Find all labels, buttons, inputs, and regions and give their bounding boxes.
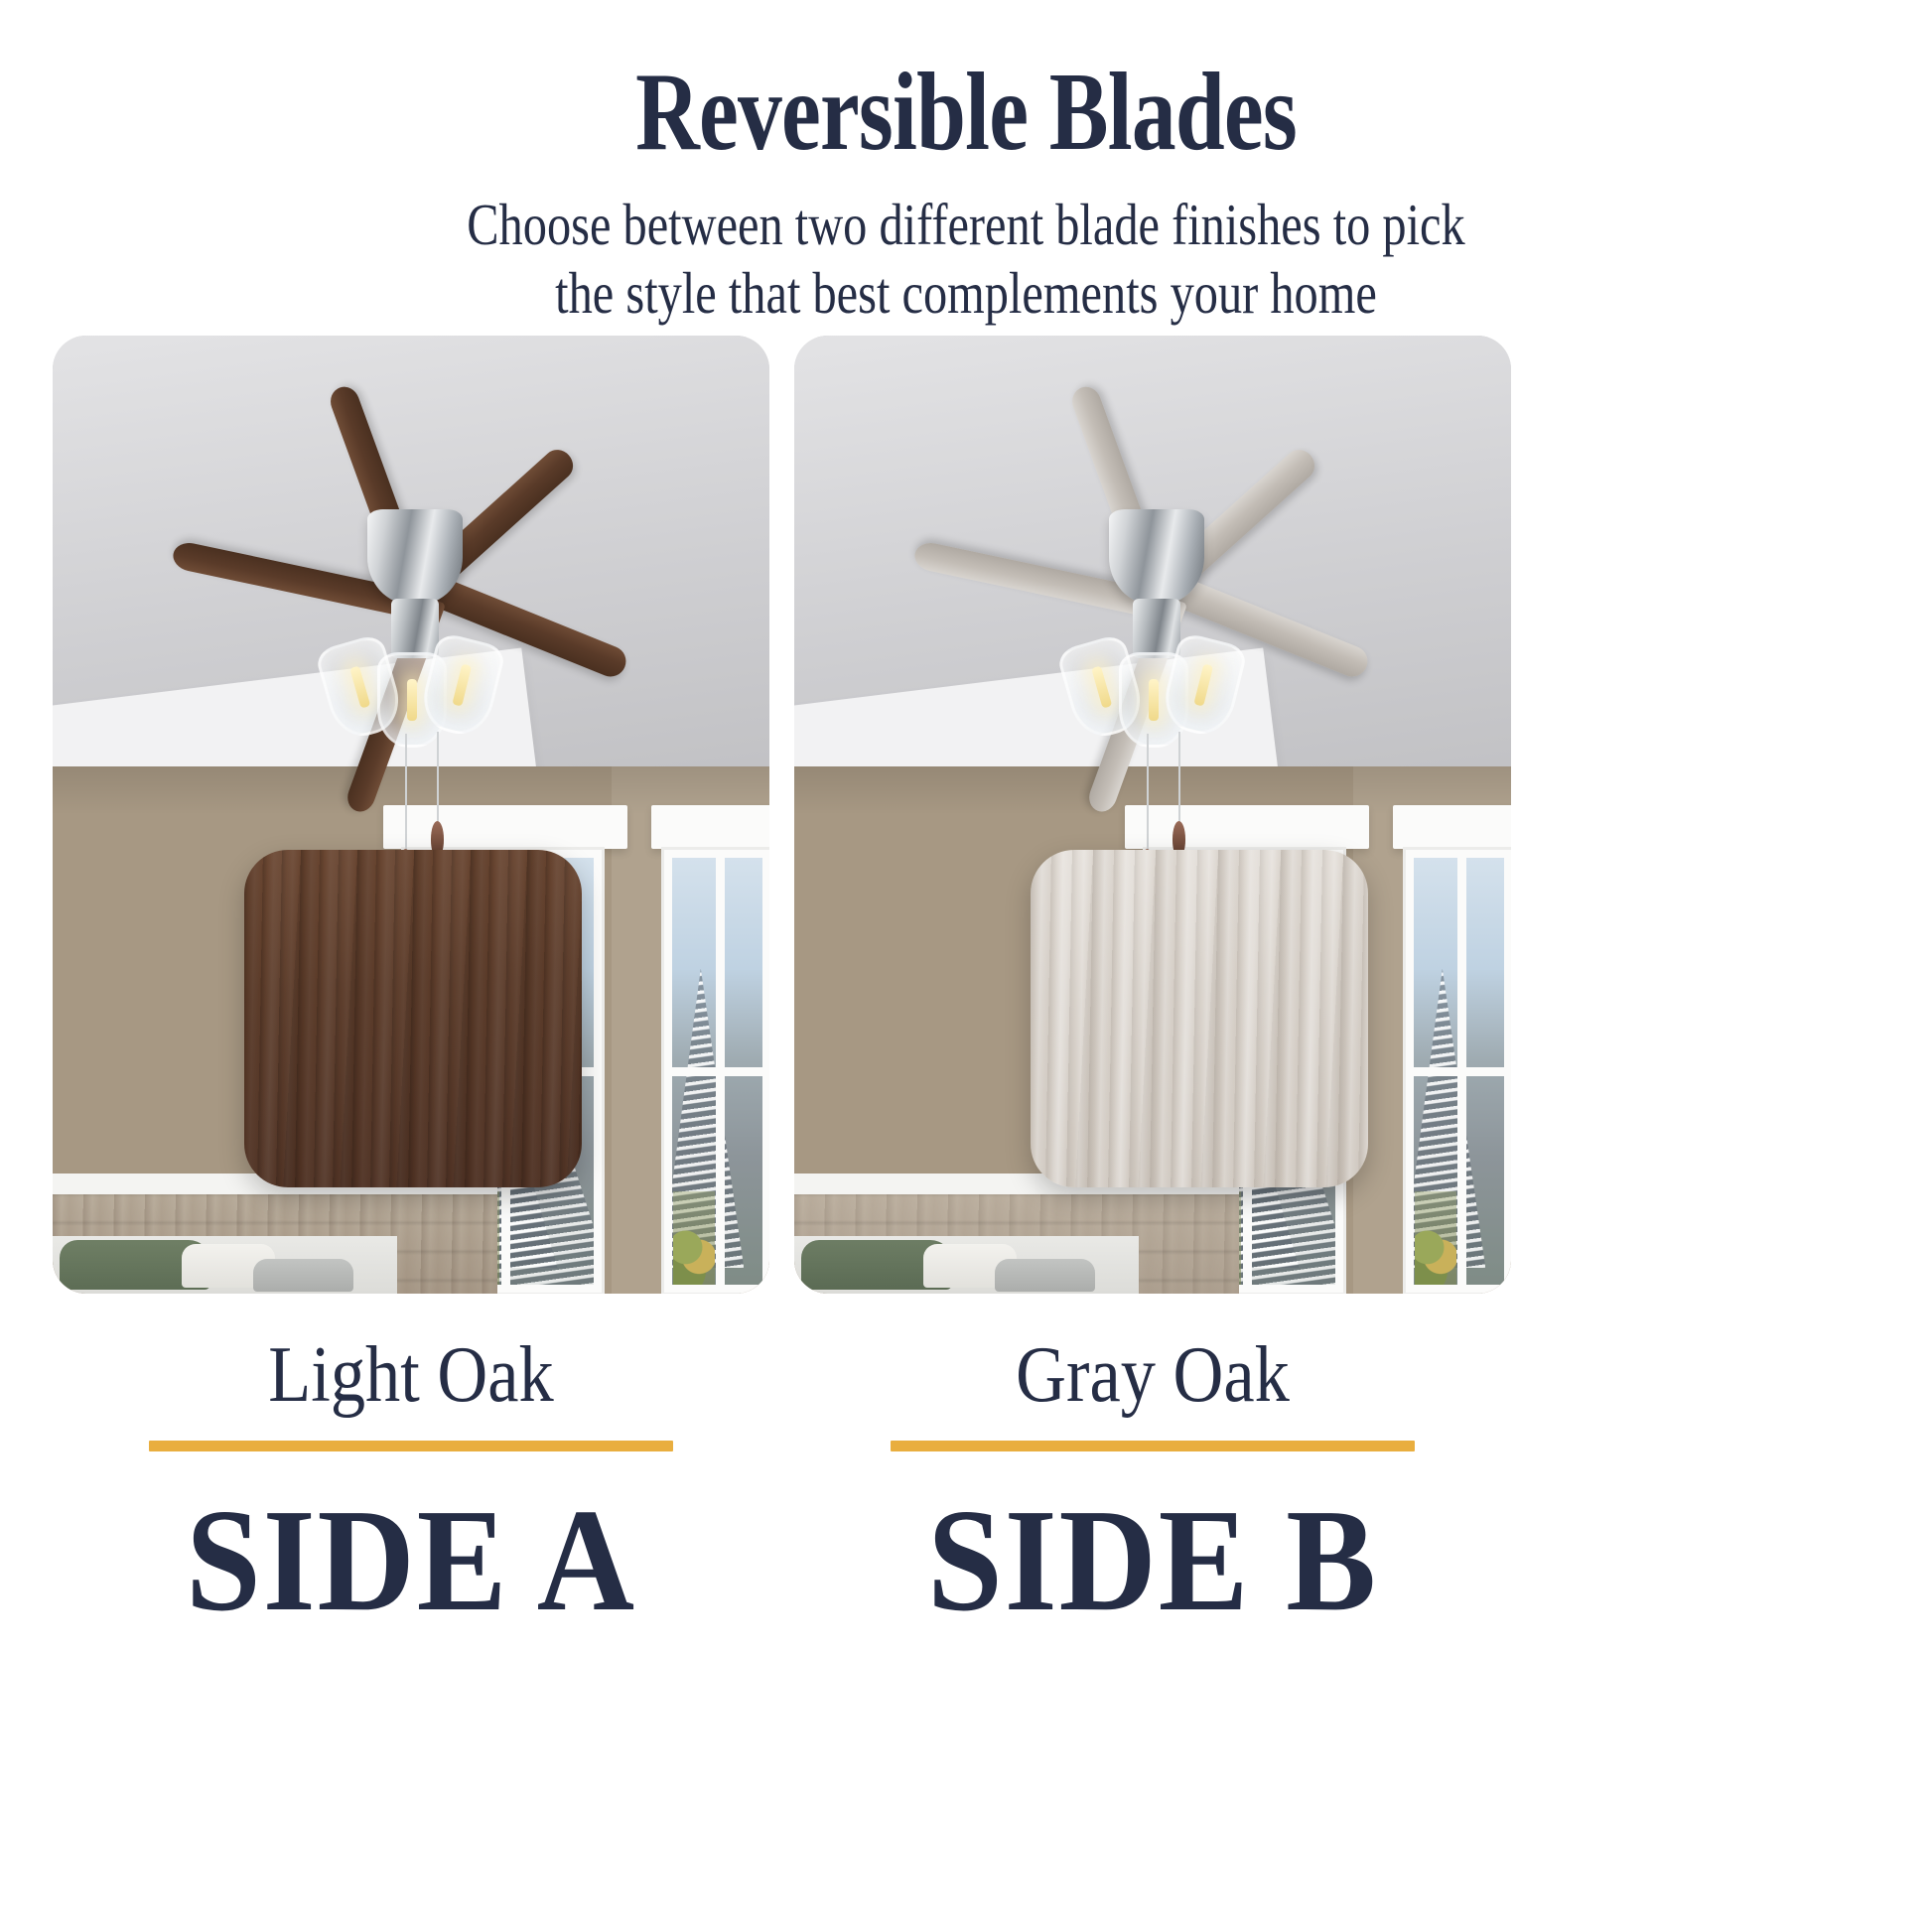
side-label-side-b: SIDE B [823,1487,1482,1634]
pull-chain [1178,732,1180,823]
finish-name-side-a: Light Oak [95,1333,726,1417]
window-glass [1414,858,1504,1286]
pull-chain [1147,734,1149,851]
window-glass [672,858,762,1286]
fan-light-kit-stem [1133,599,1180,658]
pillow-gray [995,1259,1095,1292]
window-header-trim [1393,805,1511,849]
pillow-gray [253,1259,353,1292]
blade-finish-swatch-side-b [1031,850,1368,1187]
window-header-trim [383,805,627,849]
page-title: Reversible Blades [194,56,1739,169]
caption-side-a: Light Oak SIDE A [53,1333,769,1634]
mullion-horizontal [672,1067,762,1076]
window-header-trim [1125,805,1369,849]
header: Reversible Blades Choose between two dif… [0,56,1932,327]
gold-divider-rule [149,1441,673,1451]
light-bulb-filament [349,666,370,709]
window-frame [1403,847,1511,1294]
fan-motor-housing [1109,509,1204,605]
light-bulb-filament [1091,666,1112,709]
light-bulb-filament [1149,679,1159,721]
foliage [673,1191,715,1286]
pull-chain [437,732,439,823]
caption-side-b: Gray Oak SIDE B [794,1333,1511,1634]
light-bulb-filament [1193,664,1213,707]
panel-side-a: Light Oak SIDE A [53,336,918,1884]
fan-light-kit-stem [391,599,439,658]
window-secondary [1396,805,1511,1294]
comparison-panels: Light Oak SIDE A [0,336,1932,1884]
window-header-trim [651,805,769,849]
fan-motor-housing [367,509,463,605]
pull-chain [405,734,407,851]
light-bulb-filament [407,679,417,721]
page-subtitle: Choose between two different blade finis… [174,191,1758,327]
panel-side-b: Gray Oak SIDE B [794,336,1660,1884]
window-frame [661,847,769,1294]
window-secondary [654,805,769,1294]
foliage [1415,1191,1456,1286]
side-label-side-a: SIDE A [81,1487,741,1634]
light-bulb-filament [452,664,472,707]
gold-divider-rule [891,1441,1415,1451]
infographic-page: Reversible Blades Choose between two dif… [0,0,1932,1932]
blade-finish-swatch-side-a [244,850,582,1187]
mullion-horizontal [1414,1067,1504,1076]
finish-name-side-b: Gray Oak [837,1333,1467,1417]
